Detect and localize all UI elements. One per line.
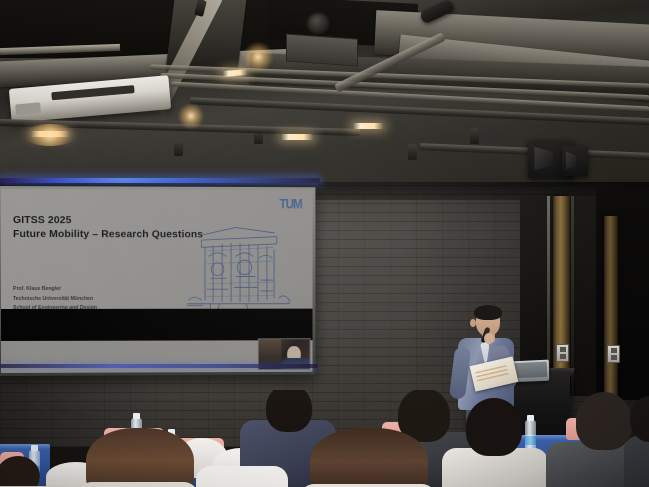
bottle-cap bbox=[133, 413, 140, 419]
conference-photo: TUM GITSS 2025 Future Mobility – Researc… bbox=[0, 0, 649, 487]
track-spot-4 bbox=[470, 128, 479, 144]
person-shoulders bbox=[196, 466, 288, 487]
slide-title: GITSS 2025 Future Mobility – Research Qu… bbox=[13, 213, 203, 241]
projection-screen[interactable]: TUM GITSS 2025 Future Mobility – Researc… bbox=[1, 189, 312, 373]
audience-person-longhair-left bbox=[86, 428, 198, 487]
slide-title-line2: Future Mobility – Research Questions bbox=[13, 227, 203, 241]
presenter-hair bbox=[474, 305, 502, 320]
slide-letterbox bbox=[1, 309, 312, 341]
led-accent-strip-top bbox=[0, 178, 320, 183]
person-head bbox=[576, 392, 632, 450]
person-head bbox=[630, 396, 649, 442]
tum-logo: TUM bbox=[279, 196, 301, 212]
projection-screen-frame: TUM GITSS 2025 Future Mobility – Researc… bbox=[0, 186, 315, 376]
ceiling-vent-round bbox=[306, 12, 332, 36]
audience-person-longhair-center bbox=[310, 428, 430, 487]
bottle-cap bbox=[31, 445, 38, 451]
audience-person-center-right bbox=[448, 398, 540, 487]
person-head bbox=[0, 456, 40, 487]
ceiling-speaker-secondary bbox=[562, 146, 588, 176]
led-accent-strip-bottom bbox=[0, 364, 318, 368]
audience-person-far-right bbox=[628, 396, 649, 487]
person-head bbox=[466, 398, 522, 456]
person-jacket bbox=[624, 436, 649, 487]
beam-edge-2 bbox=[571, 196, 574, 396]
strip-light-1 bbox=[30, 131, 70, 137]
track-spot-1 bbox=[174, 140, 183, 156]
slide-author-line-1: Technische Universität München bbox=[13, 295, 97, 305]
wooden-beam-right bbox=[604, 216, 618, 396]
slide-author-line-0: Prof. Klaus Bengler bbox=[13, 285, 97, 295]
presenter-hand bbox=[484, 333, 494, 344]
lighting-track-right bbox=[190, 97, 649, 125]
audience-area bbox=[0, 390, 649, 487]
presenter-ear bbox=[470, 319, 476, 327]
person-hair-long bbox=[86, 428, 194, 487]
presentation-slide: TUM GITSS 2025 Future Mobility – Researc… bbox=[1, 189, 312, 341]
track-spot-3 bbox=[408, 144, 417, 160]
slide-title-line1: GITSS 2025 bbox=[13, 213, 203, 227]
light-switch-left[interactable] bbox=[556, 344, 569, 362]
strip-light-3 bbox=[352, 123, 384, 129]
audience-person-bottom-left bbox=[0, 456, 70, 487]
person-head bbox=[266, 390, 312, 432]
person-shoulders bbox=[78, 482, 198, 487]
table-left-top bbox=[0, 444, 50, 449]
light-switch-right[interactable] bbox=[607, 345, 620, 363]
architectural-sketch-icon bbox=[183, 218, 291, 323]
audience-person-bottom-center bbox=[196, 460, 286, 487]
person-hair-long bbox=[310, 428, 428, 487]
wooden-beam-left bbox=[553, 196, 570, 396]
ceiling-vent-plate bbox=[286, 33, 358, 66]
strip-light-2 bbox=[280, 134, 314, 140]
